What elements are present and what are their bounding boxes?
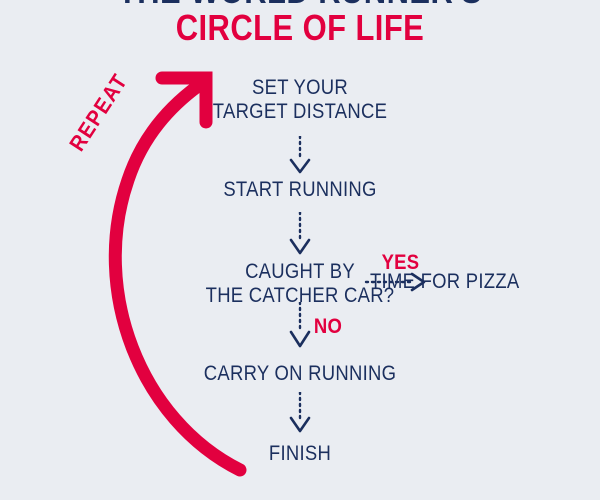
repeat-label: REPEAT xyxy=(64,69,133,156)
flow-node-line-1: TIME FOR PIZZA xyxy=(370,270,519,293)
flow-node-set-target-distance: SET YOUR TARGET DISTANCE xyxy=(168,76,432,123)
flow-node-start-running: START RUNNING xyxy=(168,178,432,202)
flow-node-line-1: FINISH xyxy=(269,442,331,465)
connector-arrow-down-icon xyxy=(280,212,320,260)
flow-node-line-1: SET YOUR xyxy=(252,76,348,99)
connector-arrow-down-icon xyxy=(280,136,320,178)
flow-node-line-1: CAUGHT BY xyxy=(245,260,355,283)
connector-arrow-down-icon xyxy=(280,392,320,438)
infographic-canvas: THE WORLD RUNNER'S CIRCLE OF LIFE REPEAT… xyxy=(0,0,600,500)
title-line-2: CIRCLE OF LIFE xyxy=(42,11,558,46)
page-title: THE WORLD RUNNER'S CIRCLE OF LIFE xyxy=(0,0,600,45)
flow-node-line-1: START RUNNING xyxy=(223,178,376,201)
flow-node-line-1: CARRY ON RUNNING xyxy=(204,362,396,385)
flow-node-carry-on-running: CARRY ON RUNNING xyxy=(168,362,432,386)
flow-node-time-for-pizza: TIME FOR PIZZA xyxy=(370,270,572,294)
connector-arrow-down-icon xyxy=(280,302,320,354)
flow-node-finish: FINISH xyxy=(168,442,432,466)
flow-node-line-2: TARGET DISTANCE xyxy=(168,100,432,124)
